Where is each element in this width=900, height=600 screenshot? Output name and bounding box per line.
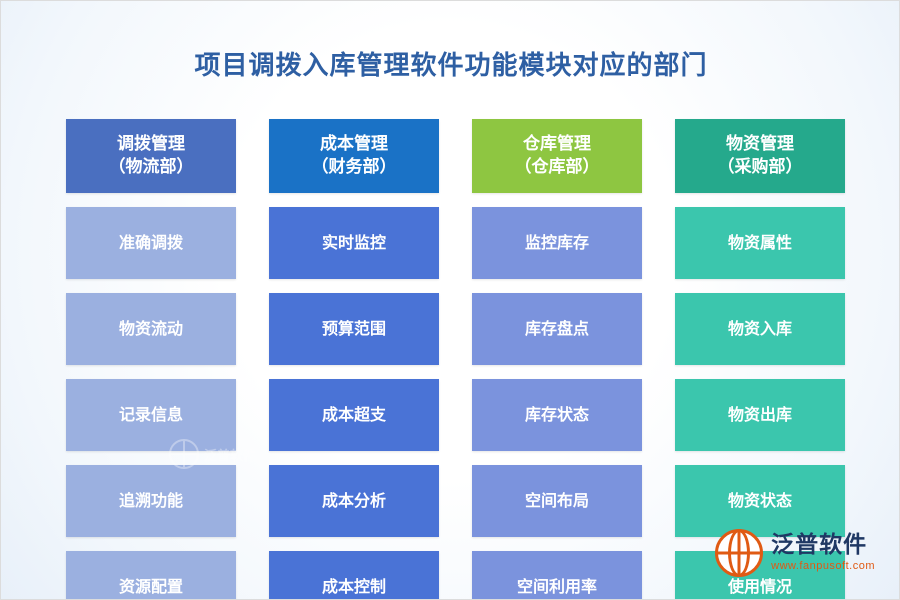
module-cell-label: 监控库存 [525, 232, 589, 254]
module-cell-label: 成本分析 [322, 490, 386, 512]
brand-logo: 泛普软件 www.fanpusoft.com [715, 529, 875, 577]
brand-text: 泛普软件 www.fanpusoft.com [771, 534, 875, 572]
module-cell-label: 追溯功能 [119, 490, 183, 512]
module-cell[interactable]: 准确调拨 [66, 207, 236, 279]
module-cell-label: 实时监控 [322, 232, 386, 254]
module-cell-label: 库存盘点 [525, 318, 589, 340]
column-header-finance[interactable]: 成本管理 （财务部） [269, 119, 439, 193]
module-cell-label: 物资属性 [728, 232, 792, 254]
brand-url: www.fanpusoft.com [771, 561, 875, 572]
module-cell[interactable]: 库存状态 [472, 379, 642, 451]
module-cell-label: 空间布局 [525, 490, 589, 512]
brand-name: 泛普软件 [771, 534, 875, 557]
module-cell[interactable]: 成本分析 [269, 465, 439, 537]
module-cell-label: 记录信息 [119, 404, 183, 426]
module-cell[interactable]: 空间布局 [472, 465, 642, 537]
module-cell[interactable]: 物资状态 [675, 465, 845, 537]
module-cell-label: 物资流动 [119, 318, 183, 340]
module-cell[interactable]: 预算范围 [269, 293, 439, 365]
module-cell[interactable]: 追溯功能 [66, 465, 236, 537]
column-header-purchasing[interactable]: 物资管理 （采购部） [675, 119, 845, 193]
module-cell[interactable]: 空间利用率 [472, 551, 642, 600]
module-cell[interactable]: 实时监控 [269, 207, 439, 279]
column-header-finance-label: 成本管理 （财务部） [312, 133, 397, 179]
module-cell-label: 库存状态 [525, 404, 589, 426]
module-cell-label: 空间利用率 [517, 576, 597, 598]
module-cell[interactable]: 成本超支 [269, 379, 439, 451]
globe-icon [715, 529, 763, 577]
column-header-logistics[interactable]: 调拨管理 （物流部） [66, 119, 236, 193]
page-title: 项目调拨入库管理软件功能模块对应的部门 [1, 45, 900, 82]
module-cell[interactable]: 物资流动 [66, 293, 236, 365]
module-cell-label: 物资状态 [728, 490, 792, 512]
module-cell-label: 准确调拨 [119, 232, 183, 254]
module-cell[interactable]: 记录信息 [66, 379, 236, 451]
module-cell-label: 资源配置 [119, 576, 183, 598]
diagram-page: 项目调拨入库管理软件功能模块对应的部门 调拨管理 （物流部） 成本管理 （财务部… [0, 0, 900, 600]
module-cell[interactable]: 物资属性 [675, 207, 845, 279]
module-cell-label: 使用情况 [728, 576, 792, 598]
module-cell[interactable]: 资源配置 [66, 551, 236, 600]
module-cell[interactable]: 成本控制 [269, 551, 439, 600]
column-header-logistics-label: 调拨管理 （物流部） [109, 133, 194, 179]
module-cell[interactable]: 物资入库 [675, 293, 845, 365]
column-header-warehouse-label: 仓库管理 （仓库部） [515, 133, 600, 179]
module-cell-label: 成本控制 [322, 576, 386, 598]
column-header-warehouse[interactable]: 仓库管理 （仓库部） [472, 119, 642, 193]
module-cell-label: 物资入库 [728, 318, 792, 340]
module-department-grid: 调拨管理 （物流部） 成本管理 （财务部） 仓库管理 （仓库部） 物资管理 （采… [66, 119, 836, 600]
module-cell[interactable]: 物资出库 [675, 379, 845, 451]
module-cell-label: 预算范围 [322, 318, 386, 340]
module-cell[interactable]: 监控库存 [472, 207, 642, 279]
module-cell-label: 成本超支 [322, 404, 386, 426]
module-cell-label: 物资出库 [728, 404, 792, 426]
column-header-purchasing-label: 物资管理 （采购部） [718, 133, 803, 179]
module-cell[interactable]: 库存盘点 [472, 293, 642, 365]
